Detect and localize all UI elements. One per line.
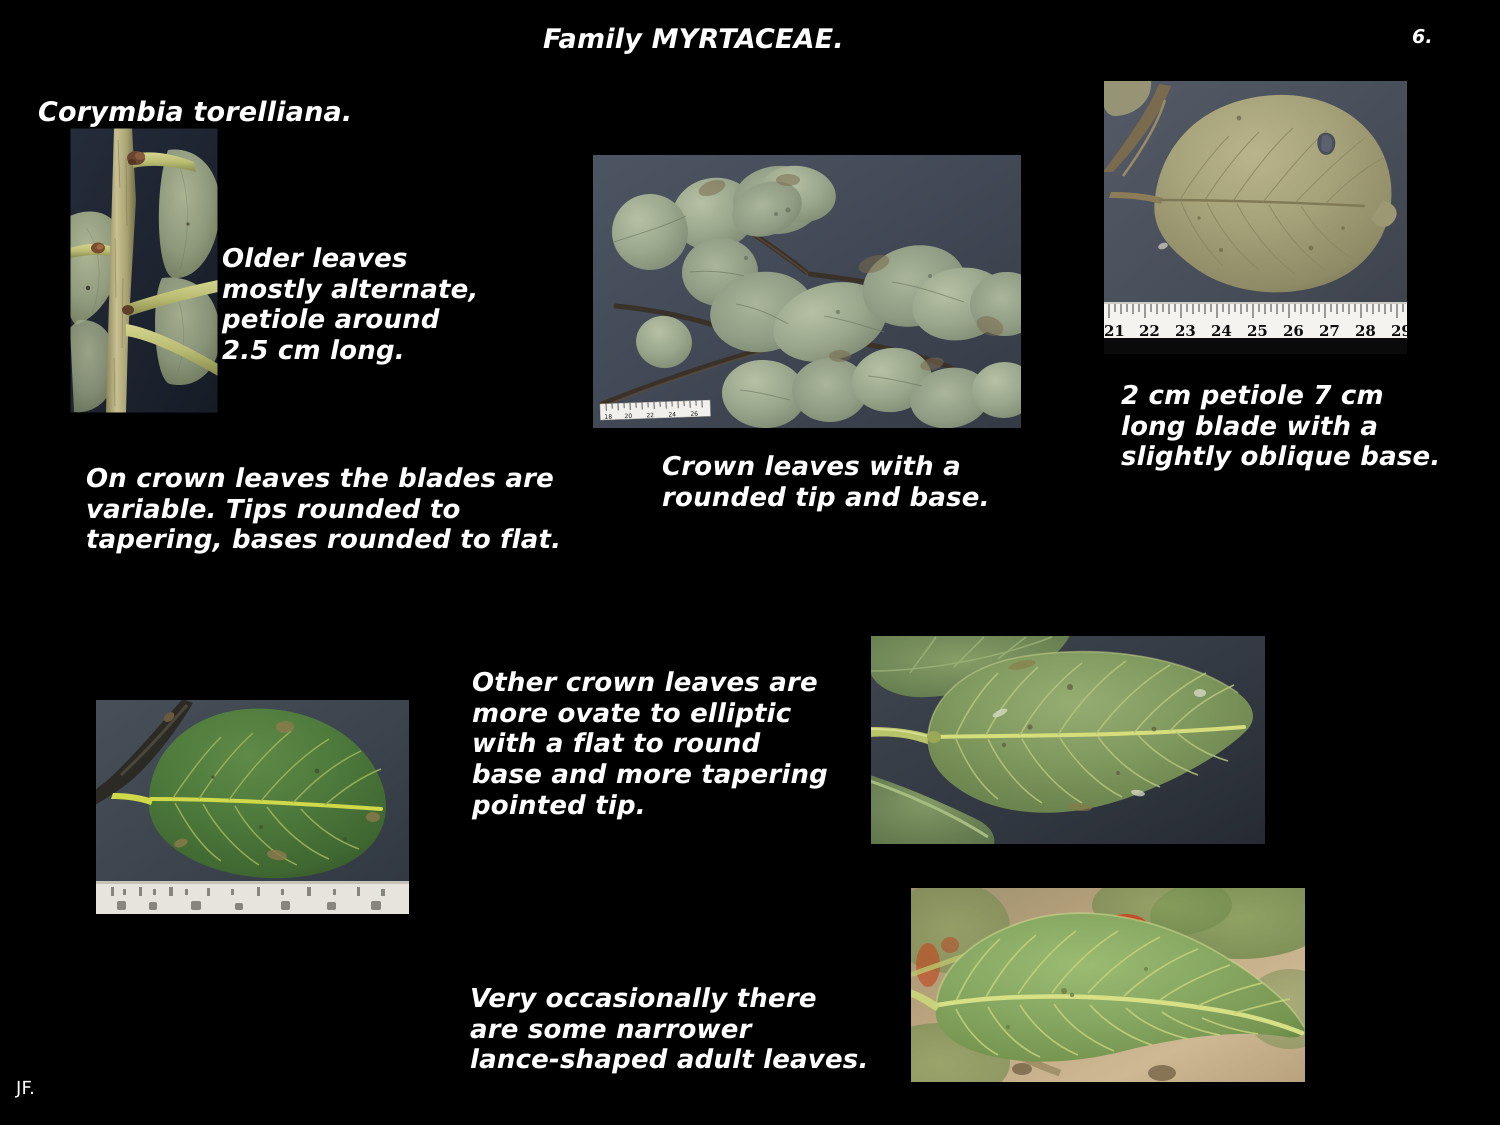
ovate-leaf-photo xyxy=(95,699,410,915)
caption-on-crown-leaves: On crown leaves the blades are variable.… xyxy=(86,464,561,556)
svg-text:26: 26 xyxy=(690,411,698,418)
caption-petiole-blade: 2 cm petiole 7 cm long blade with a slig… xyxy=(1121,381,1440,473)
svg-text:23: 23 xyxy=(1175,322,1196,340)
page-title: Family MYRTACEAE. xyxy=(543,24,844,56)
page-number: 6. xyxy=(1412,26,1433,48)
caption-other-crown-leaves: Other crown leaves are more ovate to ell… xyxy=(472,668,828,821)
single-leaf-with-ruler-photo: 21 22 23 24 25 26 27 28 29 xyxy=(1103,80,1408,355)
author-signature: JF. xyxy=(16,1078,35,1099)
svg-text:22: 22 xyxy=(646,412,654,419)
elliptic-leaf-photo xyxy=(870,635,1266,845)
svg-text:27: 27 xyxy=(1319,322,1340,340)
svg-text:22: 22 xyxy=(1139,322,1160,340)
lance-shaped-leaf-photo xyxy=(910,887,1306,1083)
slide-canvas: Family MYRTACEAE. 6. Corymbia torelliana… xyxy=(0,0,1500,1125)
svg-text:29: 29 xyxy=(1391,322,1408,340)
branch-with-alternate-petioles-photo xyxy=(70,128,218,413)
species-name: Corymbia torelliana. xyxy=(38,97,352,129)
svg-text:24: 24 xyxy=(668,411,676,418)
crown-leaves-spray-photo: 1820 2224 26 xyxy=(592,154,1022,429)
svg-text:25: 25 xyxy=(1247,322,1268,340)
caption-older-leaves: Older leaves mostly alternate, petiole a… xyxy=(222,244,479,367)
svg-text:18: 18 xyxy=(604,414,612,421)
caption-narrower-leaves: Very occasionally there are some narrowe… xyxy=(470,984,869,1076)
svg-text:20: 20 xyxy=(624,413,632,420)
svg-text:24: 24 xyxy=(1211,322,1232,340)
svg-text:21: 21 xyxy=(1104,322,1125,340)
caption-crown-leaves: Crown leaves with a rounded tip and base… xyxy=(662,452,990,513)
svg-text:28: 28 xyxy=(1355,322,1376,340)
svg-text:26: 26 xyxy=(1283,322,1304,340)
